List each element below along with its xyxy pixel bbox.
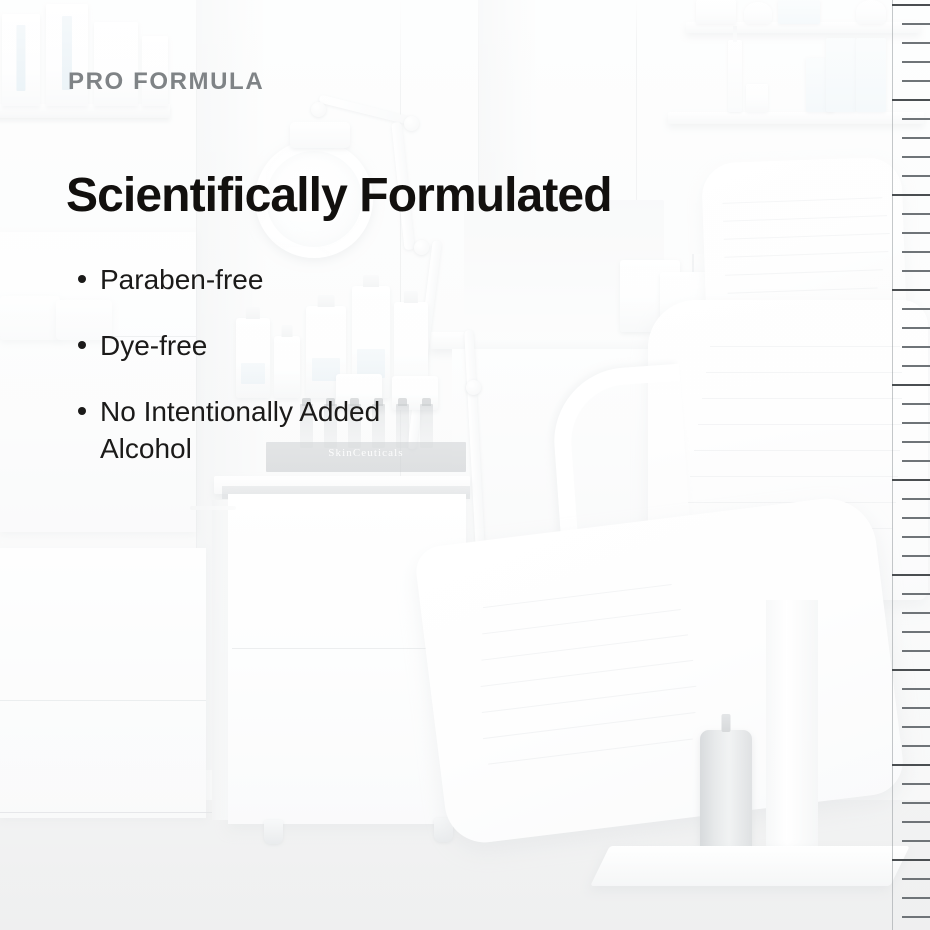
ruler-tick-minor <box>902 460 930 462</box>
ruler-tick-minor <box>902 745 930 747</box>
ruler-tick-minor <box>902 422 930 424</box>
ruler-tick-major <box>892 669 930 671</box>
ruler-tick-minor <box>902 23 930 25</box>
ruler-tick-minor <box>902 897 930 899</box>
ruler-tick-minor <box>902 156 930 158</box>
eyebrow-label: PRO FORMULA <box>68 68 264 96</box>
bullet-dot-icon <box>78 341 86 349</box>
ruler-tick-minor <box>902 175 930 177</box>
ruler-tick-minor <box>902 80 930 82</box>
ruler-tick-major <box>892 194 930 196</box>
ruler-tick-minor <box>902 650 930 652</box>
ruler-tick-major <box>892 4 930 6</box>
ruler-tick-minor <box>902 517 930 519</box>
ruler-strip <box>884 0 930 930</box>
ruler-tick-minor <box>902 403 930 405</box>
ruler-tick-minor <box>902 821 930 823</box>
bullet-dot-icon <box>78 275 86 283</box>
benefit-item: Dye-free <box>70 328 410 365</box>
ruler-tick-minor <box>902 707 930 709</box>
promo-banner: SkinCeuticals <box>0 0 930 930</box>
ruler-tick-minor <box>902 498 930 500</box>
ruler-tick-minor <box>902 251 930 253</box>
benefits-list: Paraben-freeDye-freeNo Intentionally Add… <box>70 262 410 468</box>
ruler-tick-minor <box>902 441 930 443</box>
ruler-tick-minor <box>902 346 930 348</box>
bullet-dot-icon <box>78 407 86 415</box>
ruler-tick-major <box>892 99 930 101</box>
ruler-tick-minor <box>902 783 930 785</box>
ruler-tick-minor <box>902 555 930 557</box>
ruler-tick-minor <box>902 232 930 234</box>
ruler-tick-minor <box>902 916 930 918</box>
ruler-tick-major <box>892 289 930 291</box>
ruler-tick-minor <box>902 270 930 272</box>
benefit-item: No Intentionally Added Alcohol <box>70 394 410 468</box>
ruler-tick-minor <box>902 726 930 728</box>
text-overlay: PRO FORMULA Scientifically Formulated Pa… <box>0 0 930 930</box>
ruler-tick-minor <box>902 878 930 880</box>
ruler-tick-minor <box>902 536 930 538</box>
ruler-tick-minor <box>902 137 930 139</box>
ruler-tick-minor <box>902 365 930 367</box>
ruler-tick-minor <box>902 118 930 120</box>
benefit-item: Paraben-free <box>70 262 410 299</box>
ruler-tick-minor <box>902 840 930 842</box>
ruler-rail <box>892 0 893 930</box>
ruler-tick-minor <box>902 308 930 310</box>
ruler-tick-minor <box>902 631 930 633</box>
ruler-tick-minor <box>902 213 930 215</box>
benefit-label: Dye-free <box>100 330 207 361</box>
ruler-tick-major <box>892 384 930 386</box>
ruler-tick-minor <box>902 593 930 595</box>
ruler-tick-minor <box>902 802 930 804</box>
ruler-tick-minor <box>902 688 930 690</box>
ruler-tick-major <box>892 574 930 576</box>
ruler-tick-major <box>892 764 930 766</box>
ruler-tick-minor <box>902 327 930 329</box>
ruler-tick-major <box>892 859 930 861</box>
ruler-tick-minor <box>902 612 930 614</box>
benefit-label: No Intentionally Added Alcohol <box>100 396 380 464</box>
ruler-tick-minor <box>902 61 930 63</box>
ruler-tick-major <box>892 479 930 481</box>
benefit-label: Paraben-free <box>100 264 263 295</box>
page-title: Scientifically Formulated <box>66 168 612 223</box>
ruler-tick-minor <box>902 42 930 44</box>
